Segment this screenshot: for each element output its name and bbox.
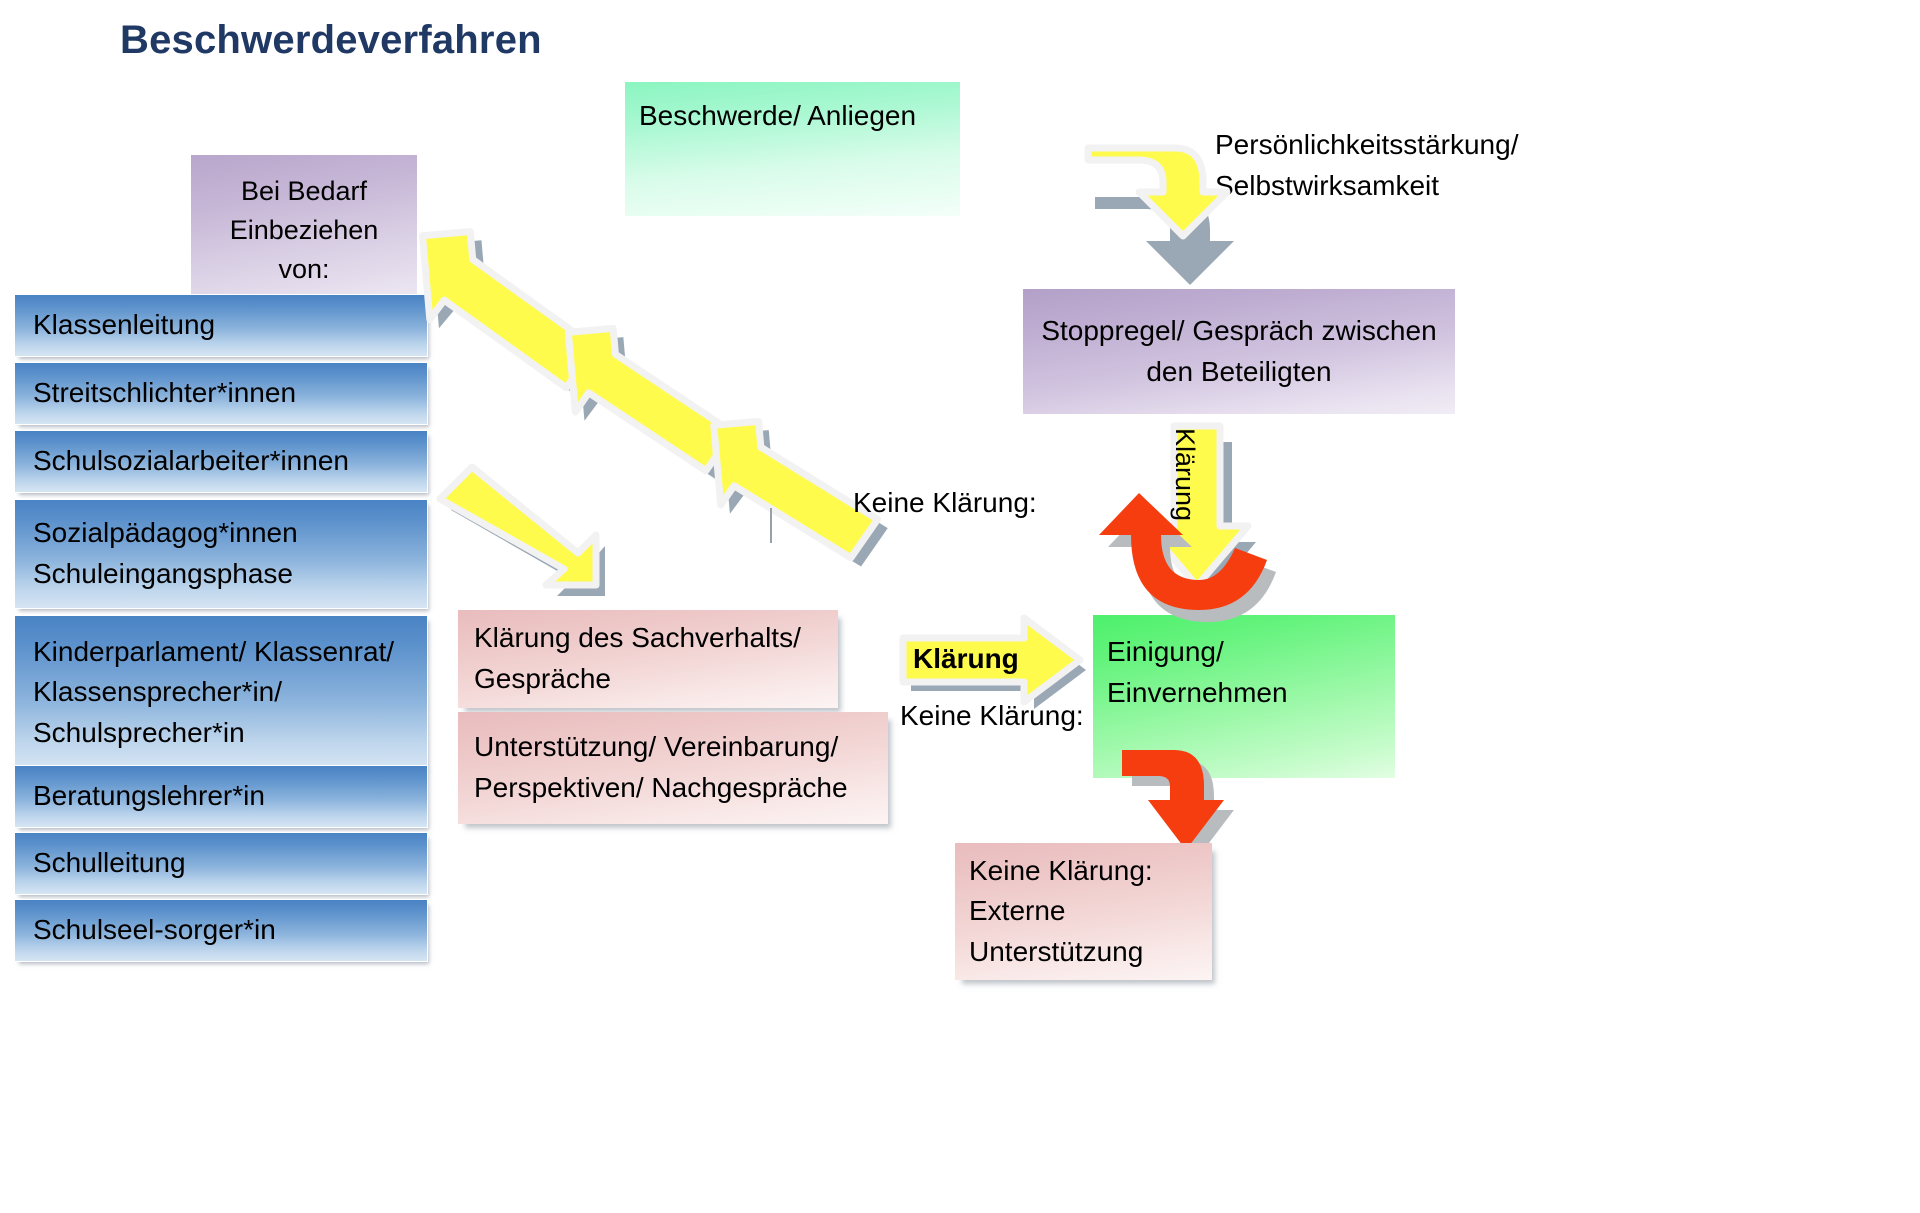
list-item-label: Kinderparlament/ Klassenrat/ (33, 632, 427, 673)
node-complaint-label: Beschwerde/ Anliegen (639, 96, 950, 137)
list-item-label: Schulseel-sorger*in (33, 910, 427, 951)
list-item-label: Sozialpädagog*innen (33, 513, 427, 554)
node-clarify-facts: Klärung des Sachverhalts/ Gespräche (458, 610, 838, 708)
node-involve-header: Bei Bedarf Einbeziehen von: (191, 155, 417, 298)
label-no-clarification-upper: Keine Klärung: (853, 487, 1037, 519)
list-item-streitschlichter[interactable]: Streitschlichter*innen (14, 362, 428, 425)
divider-tick (770, 508, 772, 543)
arrow-downright-yellow (432, 483, 617, 623)
support-line1: Unterstützung/ Vereinbarung/ (474, 727, 888, 768)
stop-rule-line1: Stoppregel/ Gespräch zwischen (1023, 311, 1455, 352)
external-line2: Externe (969, 891, 1212, 932)
support-line2: Perspektiven/ Nachgespräche (474, 768, 888, 809)
list-item-label: Beratungslehrer*in (33, 776, 427, 817)
list-item-label: Schulleitung (33, 843, 427, 884)
arrow-bent-down-yellow (1075, 138, 1245, 278)
list-item-label: Klassenleitung (33, 305, 427, 346)
list-item-label: Schulsprecher*in (33, 713, 427, 754)
label-klaerung-horizontal: Klärung (913, 643, 1019, 675)
label-empowerment-line2: Selbstwirksamkeit (1215, 170, 1439, 202)
label-empowerment-line1: Persönlichkeitsstärkung/ (1215, 129, 1518, 161)
page-title: Beschwerdeverfahren (120, 18, 542, 63)
node-external-support: Keine Klärung: Externe Unterstützung (955, 843, 1212, 980)
involve-header-line2: Einbeziehen (191, 211, 417, 250)
node-support: Unterstützung/ Vereinbarung/ Perspektive… (458, 712, 888, 824)
arrow-curve-left-red-upper (1095, 518, 1305, 648)
involve-header-line1: Bei Bedarf (191, 172, 417, 211)
list-item-label: Klassensprecher*in/ (33, 672, 427, 713)
label-klaerung-vertical: Klärung (1169, 428, 1200, 521)
list-item-schulsozialarbeiter[interactable]: Schulsozialarbeiter*innen (14, 430, 428, 493)
node-complaint: Beschwerde/ Anliegen (625, 82, 960, 216)
external-line3: Unterstützung (969, 932, 1212, 973)
list-item-klassenleitung[interactable]: Klassenleitung (14, 294, 428, 357)
list-item-label: Streitschlichter*innen (33, 373, 427, 414)
list-item-beratungslehrer[interactable]: Beratungslehrer*in (14, 765, 428, 828)
list-item-label: Schuleingangsphase (33, 554, 427, 595)
list-item-schulseelsorger[interactable]: Schulseel-sorger*in (14, 899, 428, 962)
agreement-line2: Einvernehmen (1107, 673, 1395, 714)
list-item-kinderparlament[interactable]: Kinderparlament/ Klassenrat/ Klassenspre… (14, 615, 428, 770)
list-item-schulleitung[interactable]: Schulleitung (14, 832, 428, 895)
external-line1: Keine Klärung: (969, 851, 1212, 892)
list-item-label: Schulsozialarbeiter*innen (33, 441, 427, 482)
node-stop-rule: Stoppregel/ Gespräch zwischen den Beteil… (1023, 289, 1455, 414)
list-item-sozialpaedagogen[interactable]: Sozialpädagog*innen Schuleingangsphase (14, 499, 428, 609)
label-no-clarification-lower: Keine Klärung: (900, 700, 1084, 732)
stop-rule-line2: den Beteiligten (1023, 352, 1455, 393)
clarify-facts-line1: Klärung des Sachverhalts/ (474, 618, 838, 659)
involve-header-line3: von: (191, 250, 417, 289)
clarify-facts-line2: Gespräche (474, 659, 838, 700)
